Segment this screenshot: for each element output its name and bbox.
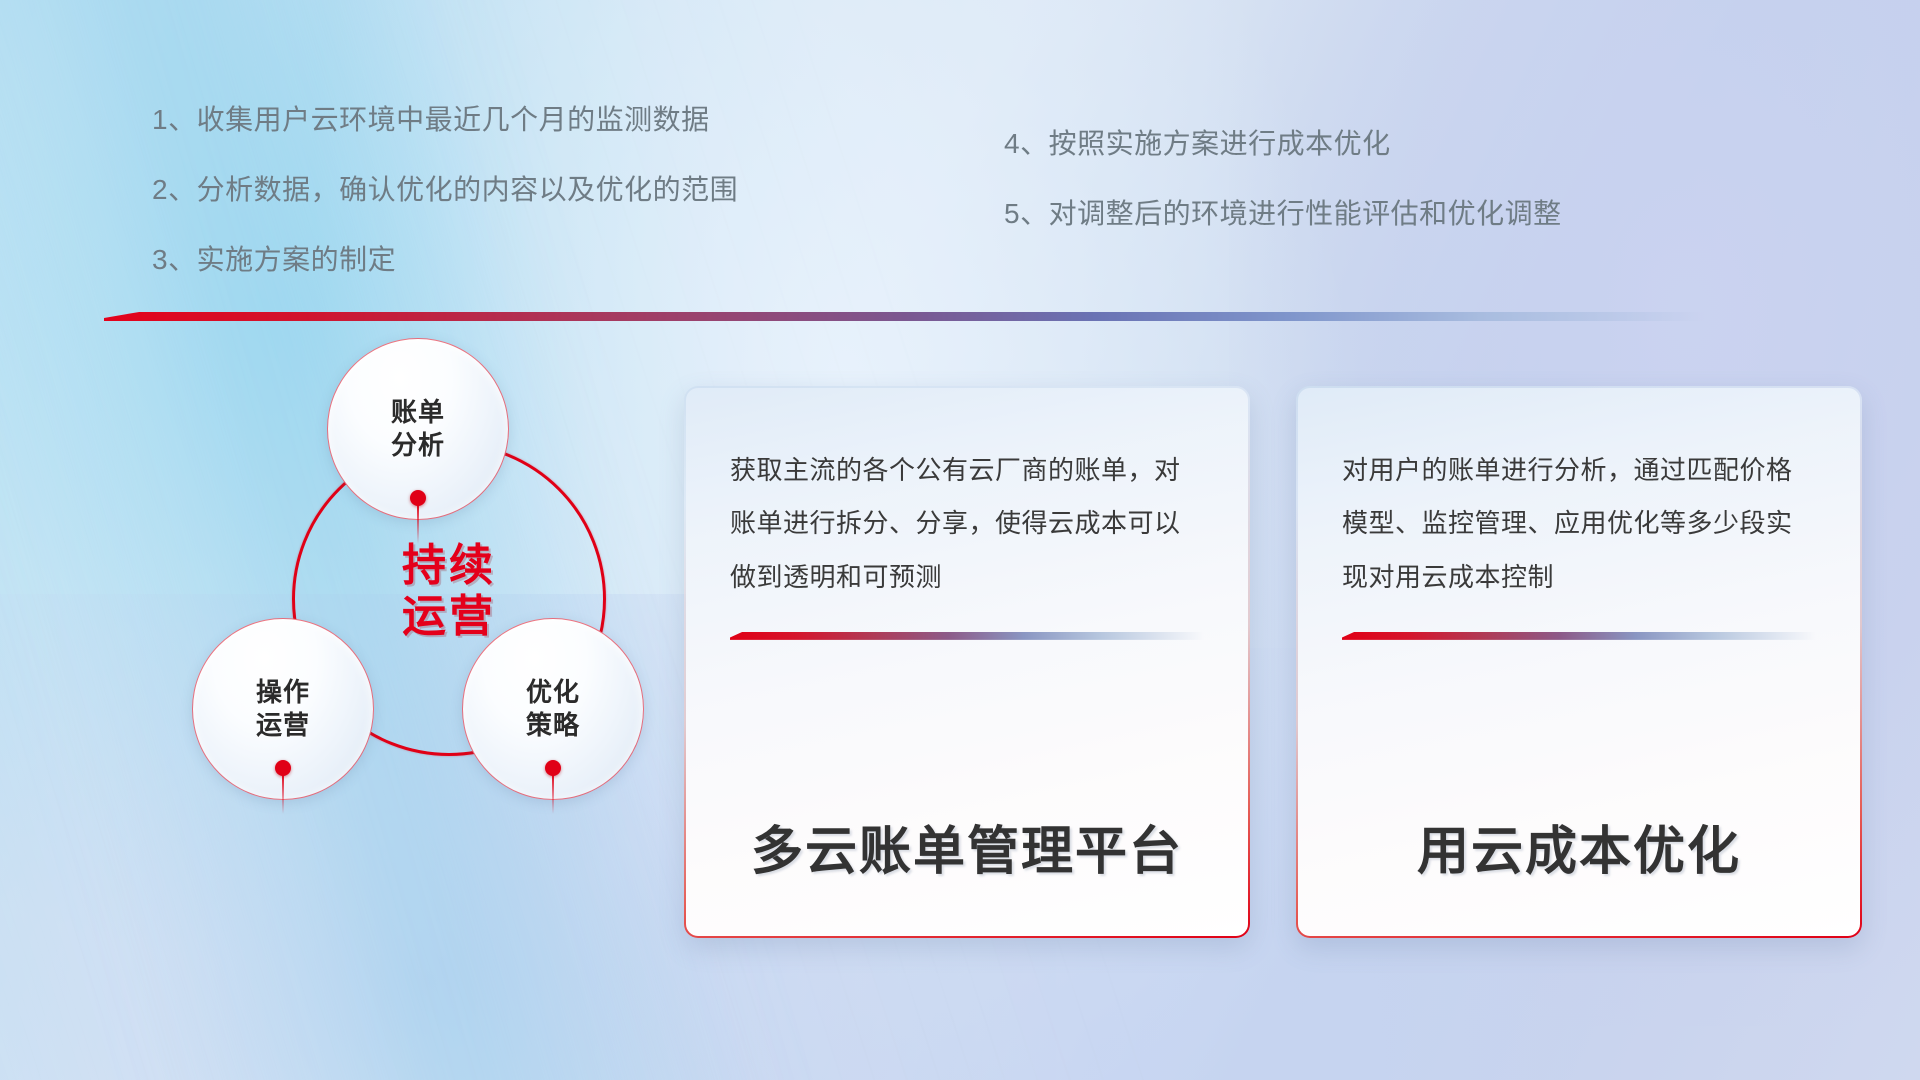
feature-card-cloud-cost-optimization[interactable]: 对用户的账单进行分析，通过匹配价格模型、监控管理、应用优化等多少段实现对用云成本… <box>1296 386 1862 938</box>
card-inner: 获取主流的各个公有云厂商的账单，对账单进行拆分、分享，使得云成本可以做到透明和可… <box>686 388 1248 936</box>
cycle-node-label: 操作 运营 <box>256 676 310 743</box>
steps-list-left: 1、收集用户云环境中最近几个月的监测数据 2、分析数据，确认优化的内容以及优化的… <box>152 98 738 308</box>
cycle-node-label-line2: 策略 <box>526 709 580 742</box>
cycle-node-label-line1: 操作 <box>256 676 310 709</box>
marker-stem <box>552 774 554 814</box>
card-title: 多云账单管理平台 <box>730 809 1204 906</box>
cycle-node-label-line1: 优化 <box>526 676 580 709</box>
feature-card-multicloud-billing[interactable]: 获取主流的各个公有云厂商的账单，对账单进行拆分、分享，使得云成本可以做到透明和可… <box>684 386 1250 938</box>
step-item-5: 5、对调整后的环境进行性能评估和优化调整 <box>1004 192 1562 232</box>
cycle-node-label: 优化 策略 <box>526 676 580 743</box>
steps-list-right: 4、按照实施方案进行成本优化 5、对调整后的环境进行性能评估和优化调整 <box>1004 122 1562 262</box>
section-divider <box>104 312 1704 321</box>
marker-stem <box>417 504 419 544</box>
cycle-center-label-line1: 持续 <box>292 540 606 591</box>
cycle-marker-left <box>275 760 291 776</box>
cycle-marker-right <box>545 760 561 776</box>
card-description: 获取主流的各个公有云厂商的账单，对账单进行拆分、分享，使得云成本可以做到透明和可… <box>730 444 1204 604</box>
card-description: 对用户的账单进行分析，通过匹配价格模型、监控管理、应用优化等多少段实现对用云成本… <box>1342 444 1816 604</box>
marker-stem <box>282 774 284 814</box>
step-item-4: 4、按照实施方案进行成本优化 <box>1004 122 1562 162</box>
step-item-2: 2、分析数据，确认优化的内容以及优化的范围 <box>152 168 738 208</box>
step-item-1: 1、收集用户云环境中最近几个月的监测数据 <box>152 98 738 138</box>
step-item-3: 3、实施方案的制定 <box>152 238 738 278</box>
card-divider <box>730 632 1204 640</box>
cycle-node-label: 账单 分析 <box>391 396 445 463</box>
cycle-marker-top <box>410 490 426 506</box>
card-title: 用云成本优化 <box>1342 809 1816 906</box>
card-divider <box>1342 632 1816 640</box>
cycle-node-label-line2: 分析 <box>391 429 445 462</box>
cycle-node-label-line2: 运营 <box>256 709 310 742</box>
cycle-node-label-line1: 账单 <box>391 396 445 429</box>
cycle-diagram: 持续 运营 账单 分析 操作 运营 优化 策略 <box>96 350 656 970</box>
card-inner: 对用户的账单进行分析，通过匹配价格模型、监控管理、应用优化等多少段实现对用云成本… <box>1298 388 1860 936</box>
